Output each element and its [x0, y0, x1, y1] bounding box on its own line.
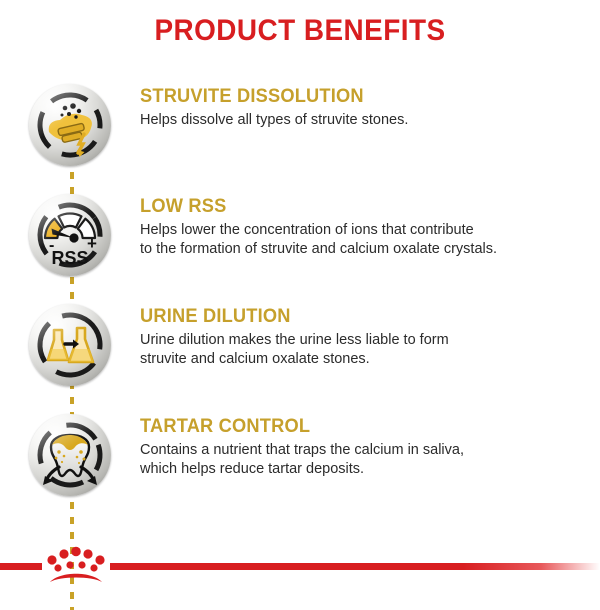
benefit-text: STRUVITE DISSOLUTION Helps dissolve all …	[140, 82, 600, 130]
benefit-item-urine-dilution: URINE DILUTION Urine dilution makes the …	[0, 302, 600, 412]
benefit-body-line: which helps reduce tartar deposits.	[140, 460, 584, 479]
benefit-body: Urine dilution makes the urine less liab…	[140, 331, 584, 369]
benefit-body-line: Contains a nutrient that traps the calci…	[140, 441, 584, 460]
page-title: PRODUCT BENEFITS	[21, 14, 579, 48]
benefits-list: STRUVITE DISSOLUTION Helps dissolve all …	[0, 82, 600, 522]
benefit-body-line: struvite and calcium oxalate stones.	[140, 350, 584, 369]
badge-tartar-control	[29, 414, 111, 496]
benefit-heading: URINE DILUTION	[140, 306, 566, 328]
footer-rule-right	[110, 563, 600, 570]
badge-struvite-dissolution	[29, 84, 111, 166]
badge-wrap	[0, 82, 140, 166]
benefit-text: TARTAR CONTROL Contains a nutrient that …	[140, 412, 600, 479]
benefit-text: LOW RSS Helps lower the concentration of…	[140, 192, 600, 259]
benefit-body-line: Urine dilution makes the urine less liab…	[140, 331, 584, 350]
benefit-body-line: to the formation of struvite and calcium…	[140, 240, 584, 259]
benefit-item-low-rss: - + RSS LOW RSS Helps lower the concentr…	[0, 192, 600, 302]
benefit-body: Helps dissolve all types of struvite sto…	[140, 111, 584, 130]
benefit-item-struvite-dissolution: STRUVITE DISSOLUTION Helps dissolve all …	[0, 82, 600, 192]
badge-low-rss: - + RSS	[29, 194, 111, 276]
benefit-item-tartar-control: TARTAR CONTROL Contains a nutrient that …	[0, 412, 600, 522]
benefit-body: Helps lower the concentration of ions th…	[140, 221, 584, 259]
badge-urine-dilution	[29, 304, 111, 386]
footer	[0, 530, 600, 600]
svg-text:RSS: RSS	[51, 248, 88, 268]
badge-wrap	[0, 412, 140, 496]
benefit-body: Contains a nutrient that traps the calci…	[140, 441, 584, 479]
benefit-body-line: Helps dissolve all types of struvite sto…	[140, 111, 584, 130]
benefit-heading: STRUVITE DISSOLUTION	[140, 86, 566, 108]
footer-rule-left	[0, 563, 42, 570]
royal-canin-crown-logo	[44, 544, 108, 588]
benefit-text: URINE DILUTION Urine dilution makes the …	[140, 302, 600, 369]
product-benefits-panel: PRODUCT BENEFITS	[0, 0, 600, 600]
benefit-heading: TARTAR CONTROL	[140, 416, 566, 438]
badge-wrap: - + RSS	[0, 192, 140, 276]
badge-wrap	[0, 302, 140, 386]
benefit-heading: LOW RSS	[140, 196, 566, 218]
benefit-body-line: Helps lower the concentration of ions th…	[140, 221, 584, 240]
